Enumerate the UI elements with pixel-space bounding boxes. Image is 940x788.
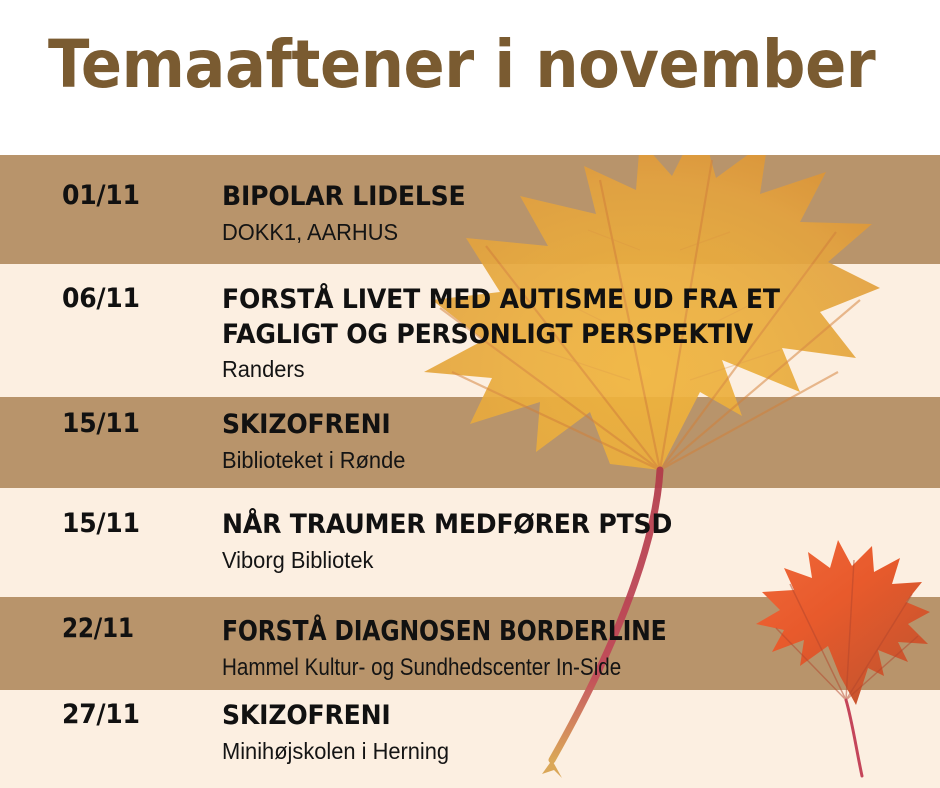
event-body: BIPOLAR LIDELSE DOKK1, AARHUS bbox=[222, 180, 922, 247]
event-date: 22/11 bbox=[62, 613, 182, 644]
event-title-line2: FAGLIGT OG PERSONLIGT PERSPEKTIV bbox=[222, 318, 873, 353]
event-date: 27/11 bbox=[62, 699, 192, 730]
event-venue: Minihøjskolen i Herning bbox=[222, 737, 887, 767]
event-title: NÅR TRAUMER MEDFØRER PTSD bbox=[222, 508, 873, 543]
event-title: FORSTÅ DIAGNOSEN BORDERLINE bbox=[222, 613, 810, 649]
page-title: Temaaftener i november bbox=[48, 24, 875, 107]
event-date: 06/11 bbox=[62, 283, 192, 314]
event-date: 15/11 bbox=[62, 508, 192, 539]
event-body: NÅR TRAUMER MEDFØRER PTSD Viborg Bibliot… bbox=[222, 508, 922, 575]
event-venue: Hammel Kultur- og Sundhedscenter In-Side bbox=[222, 652, 824, 683]
event-body: FORSTÅ DIAGNOSEN BORDERLINE Hammel Kultu… bbox=[222, 613, 922, 683]
event-title: SKIZOFRENI bbox=[222, 699, 873, 734]
title-bar: Temaaftener i november bbox=[0, 0, 940, 155]
event-venue: Randers bbox=[222, 355, 887, 385]
event-venue: Biblioteket i Rønde bbox=[222, 446, 887, 476]
event-body: SKIZOFRENI Biblioteket i Rønde bbox=[222, 408, 922, 475]
event-date: 01/11 bbox=[62, 180, 192, 211]
event-title-line1: FORSTÅ LIVET MED AUTISME UD FRA ET bbox=[222, 283, 873, 318]
event-venue: DOKK1, AARHUS bbox=[222, 218, 887, 248]
event-title: SKIZOFRENI bbox=[222, 408, 873, 443]
event-venue: Viborg Bibliotek bbox=[222, 546, 887, 576]
event-body: SKIZOFRENI Minihøjskolen i Herning bbox=[222, 699, 922, 766]
poster-canvas: Temaaftener i november 01/11 BIPOLAR LID… bbox=[0, 0, 940, 788]
event-title: BIPOLAR LIDELSE bbox=[222, 180, 873, 215]
event-body: FORSTÅ LIVET MED AUTISME UD FRA ET FAGLI… bbox=[222, 283, 922, 385]
event-date: 15/11 bbox=[62, 408, 192, 439]
